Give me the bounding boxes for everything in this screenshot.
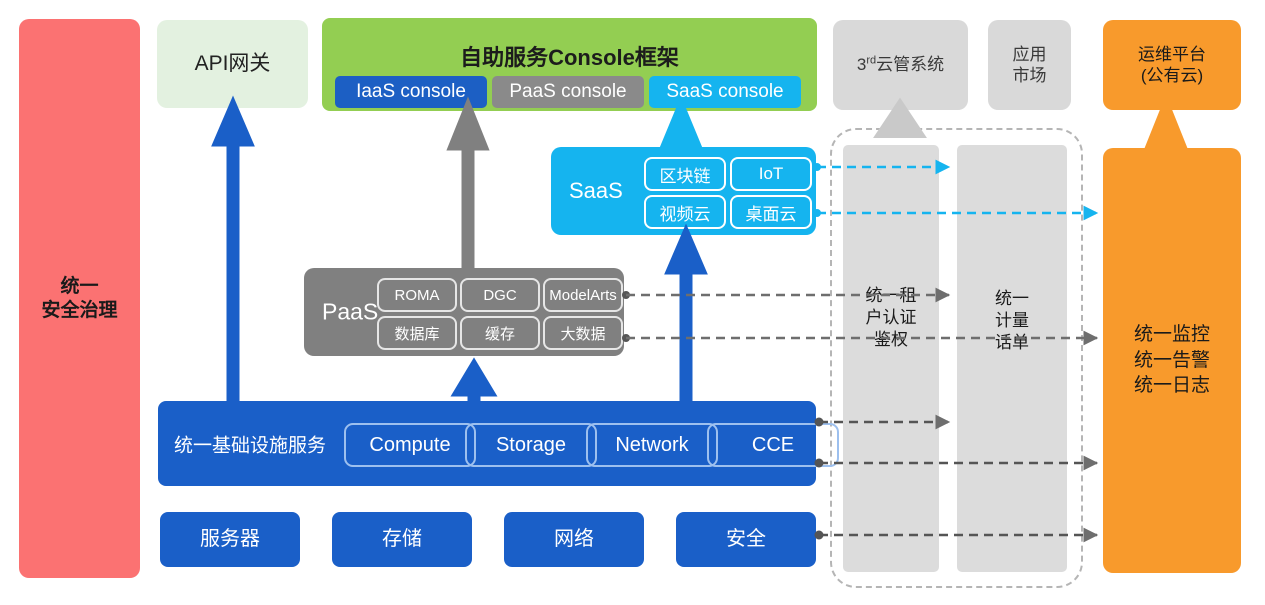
paas-chip-roma[interactable]: ROMA <box>377 278 457 312</box>
saas-chip-desktop-cloud[interactable]: 桌面云 <box>730 195 812 229</box>
security-governance-line1: 统一 <box>60 275 98 299</box>
infra-chip-cce[interactable]: CCE <box>707 423 839 467</box>
metering-line1: 统一 <box>957 288 1067 310</box>
metering-column <box>957 145 1067 572</box>
architecture-diagram: 统一 安全治理 API网关 自助服务Console框架 IaaS console… <box>0 0 1265 605</box>
api-gateway-box: API网关 <box>157 20 308 108</box>
tenant-auth-line2: 户认证 <box>843 307 939 329</box>
saas-chip-blockchain[interactable]: 区块链 <box>644 157 726 191</box>
app-market-box: 应用 市场 <box>988 20 1071 110</box>
ops-line1: 统一监控 <box>1134 322 1210 348</box>
iaas-console-chip[interactable]: IaaS console <box>335 76 487 108</box>
paas-chip-cache[interactable]: 缓存 <box>460 316 540 350</box>
resource-box-network-label: 网络 <box>554 527 594 552</box>
arrow-infra-to-paas <box>462 370 486 401</box>
arrow-saas-to-console <box>669 113 693 147</box>
tenant-auth-line3: 鉴权 <box>843 329 939 351</box>
infra-chip-storage-label: Storage <box>496 434 566 457</box>
paas-chip-modelarts[interactable]: ModelArts <box>543 278 623 312</box>
app-market-line2: 市场 <box>1013 65 1047 86</box>
infra-chip-cce-label: CCE <box>752 434 794 457</box>
saas-chip-video-cloud[interactable]: 视频云 <box>644 195 726 229</box>
arrow-paas-to-console <box>456 114 480 268</box>
paas-chip-dgc[interactable]: DGC <box>460 278 540 312</box>
tenant-auth-label: 统一租 户认证 鉴权 <box>843 285 939 351</box>
unified-infrastructure-panel: 统一基础设施服务 Compute Storage Network CCE <box>158 401 816 486</box>
infra-chip-compute[interactable]: Compute <box>344 423 476 467</box>
paas-console-chip[interactable]: PaaS console <box>492 76 644 108</box>
saas-chip-iot[interactable]: IoT <box>730 157 812 191</box>
third-party-sup: rd <box>866 55 876 67</box>
paas-chip-cache-label: 缓存 <box>485 323 515 344</box>
security-governance-panel: 统一 安全治理 <box>19 19 140 578</box>
resource-box-network[interactable]: 网络 <box>504 512 644 567</box>
resource-box-storage[interactable]: 存储 <box>332 512 472 567</box>
saas-panel: SaaS 区块链 IoT 视频云 桌面云 <box>551 147 816 235</box>
console-framework-panel: 自助服务Console框架 IaaS console PaaS console … <box>322 18 817 111</box>
paas-chip-bigdata-label: 大数据 <box>560 323 605 344</box>
ops-platform-public-cloud-box: 运维平台 (公有云) <box>1103 20 1241 110</box>
third-party-prefix: 3 <box>857 55 866 74</box>
paas-chip-modelarts-label: ModelArts <box>549 287 617 304</box>
ops-line3: 统一日志 <box>1134 373 1210 399</box>
ops-top-line1: 运维平台 <box>1138 44 1206 65</box>
paas-chip-roma-label: ROMA <box>395 287 440 304</box>
ops-line2: 统一告警 <box>1134 348 1210 374</box>
paas-chip-database[interactable]: 数据库 <box>377 316 457 350</box>
saas-chip-blockchain-label: 区块链 <box>660 162 711 187</box>
unified-ops-panel: 统一监控 统一告警 统一日志 <box>1103 148 1241 573</box>
security-governance-line2: 安全治理 <box>41 299 117 323</box>
resource-box-server-label: 服务器 <box>200 527 260 552</box>
saas-console-label: SaaS console <box>666 81 783 103</box>
tenant-auth-column <box>843 145 939 572</box>
infra-chip-network-label: Network <box>615 434 688 457</box>
metering-line2: 计量 <box>957 310 1067 332</box>
ops-top-line2: (公有云) <box>1141 65 1203 86</box>
arrow-ops-to-ops-top <box>1154 112 1178 148</box>
saas-chip-desktop-cloud-label: 桌面云 <box>746 200 797 225</box>
paas-chip-database-label: 数据库 <box>394 323 439 344</box>
resource-box-security-label: 安全 <box>726 527 766 552</box>
saas-console-chip[interactable]: SaaS console <box>649 76 801 108</box>
metering-label: 统一 计量 话单 <box>957 288 1067 354</box>
infra-chip-network[interactable]: Network <box>586 423 718 467</box>
paas-console-label: PaaS console <box>509 81 626 103</box>
iaas-console-label: IaaS console <box>356 81 466 103</box>
resource-box-server[interactable]: 服务器 <box>160 512 300 567</box>
arrow-infra-to-api-gateway <box>221 112 245 401</box>
infra-chip-compute-label: Compute <box>369 434 450 457</box>
resource-box-security[interactable]: 安全 <box>676 512 816 567</box>
saas-label: SaaS <box>569 178 623 204</box>
paas-chip-bigdata[interactable]: 大数据 <box>543 316 623 350</box>
app-market-line1: 应用 <box>1013 44 1047 65</box>
saas-chip-video-cloud-label: 视频云 <box>660 200 711 225</box>
paas-chip-dgc-label: DGC <box>483 287 516 304</box>
api-gateway-label: API网关 <box>195 51 271 77</box>
arrow-infra-to-saas <box>674 240 698 401</box>
resource-box-storage-label: 存储 <box>382 527 422 552</box>
saas-chip-iot-label: IoT <box>759 164 784 184</box>
paas-panel: PaaS ROMA DGC ModelArts 数据库 缓存 大数据 <box>304 268 624 356</box>
third-party-cloud-mgmt-box: 3rd云管系统 <box>833 20 968 110</box>
paas-label: PaaS <box>322 299 378 326</box>
metering-line3: 话单 <box>957 332 1067 354</box>
unified-infrastructure-label: 统一基础设施服务 <box>174 430 326 457</box>
console-framework-title: 自助服务Console框架 <box>322 40 817 72</box>
tenant-auth-line1: 统一租 <box>843 285 939 307</box>
infra-chip-storage[interactable]: Storage <box>465 423 597 467</box>
third-party-cloud-mgmt-label: 3rd云管系统 <box>857 54 944 75</box>
third-party-rest: 云管系统 <box>876 55 944 74</box>
